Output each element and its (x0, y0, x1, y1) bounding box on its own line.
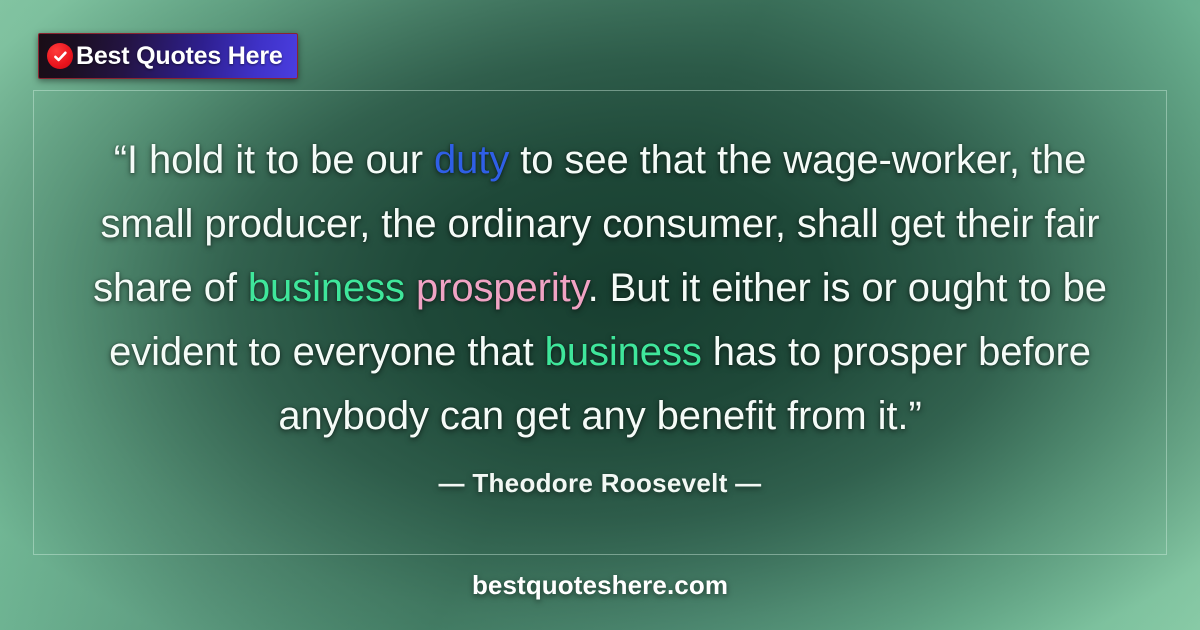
check-circle-icon (47, 43, 73, 69)
footer-site-url: bestquoteshere.com (0, 570, 1200, 601)
quote-highlight-word: business (248, 266, 405, 310)
quote-text: “I hold it to be our duty to see that th… (70, 128, 1130, 448)
site-logo-label: Best Quotes Here (76, 42, 283, 71)
quote-attribution: — Theodore Roosevelt — (0, 468, 1200, 499)
quote-highlight-word: business (545, 330, 713, 374)
quote-block: “I hold it to be our duty to see that th… (70, 128, 1130, 448)
quote-highlight-word: prosperity (416, 266, 588, 310)
quote-segment: “I hold it to be our (114, 138, 434, 182)
site-logo-badge[interactable]: Best Quotes Here (38, 33, 298, 79)
quote-highlight-word: duty (434, 138, 509, 182)
quote-card: Best Quotes Here “I hold it to be our du… (0, 0, 1200, 630)
quote-segment (405, 266, 416, 310)
